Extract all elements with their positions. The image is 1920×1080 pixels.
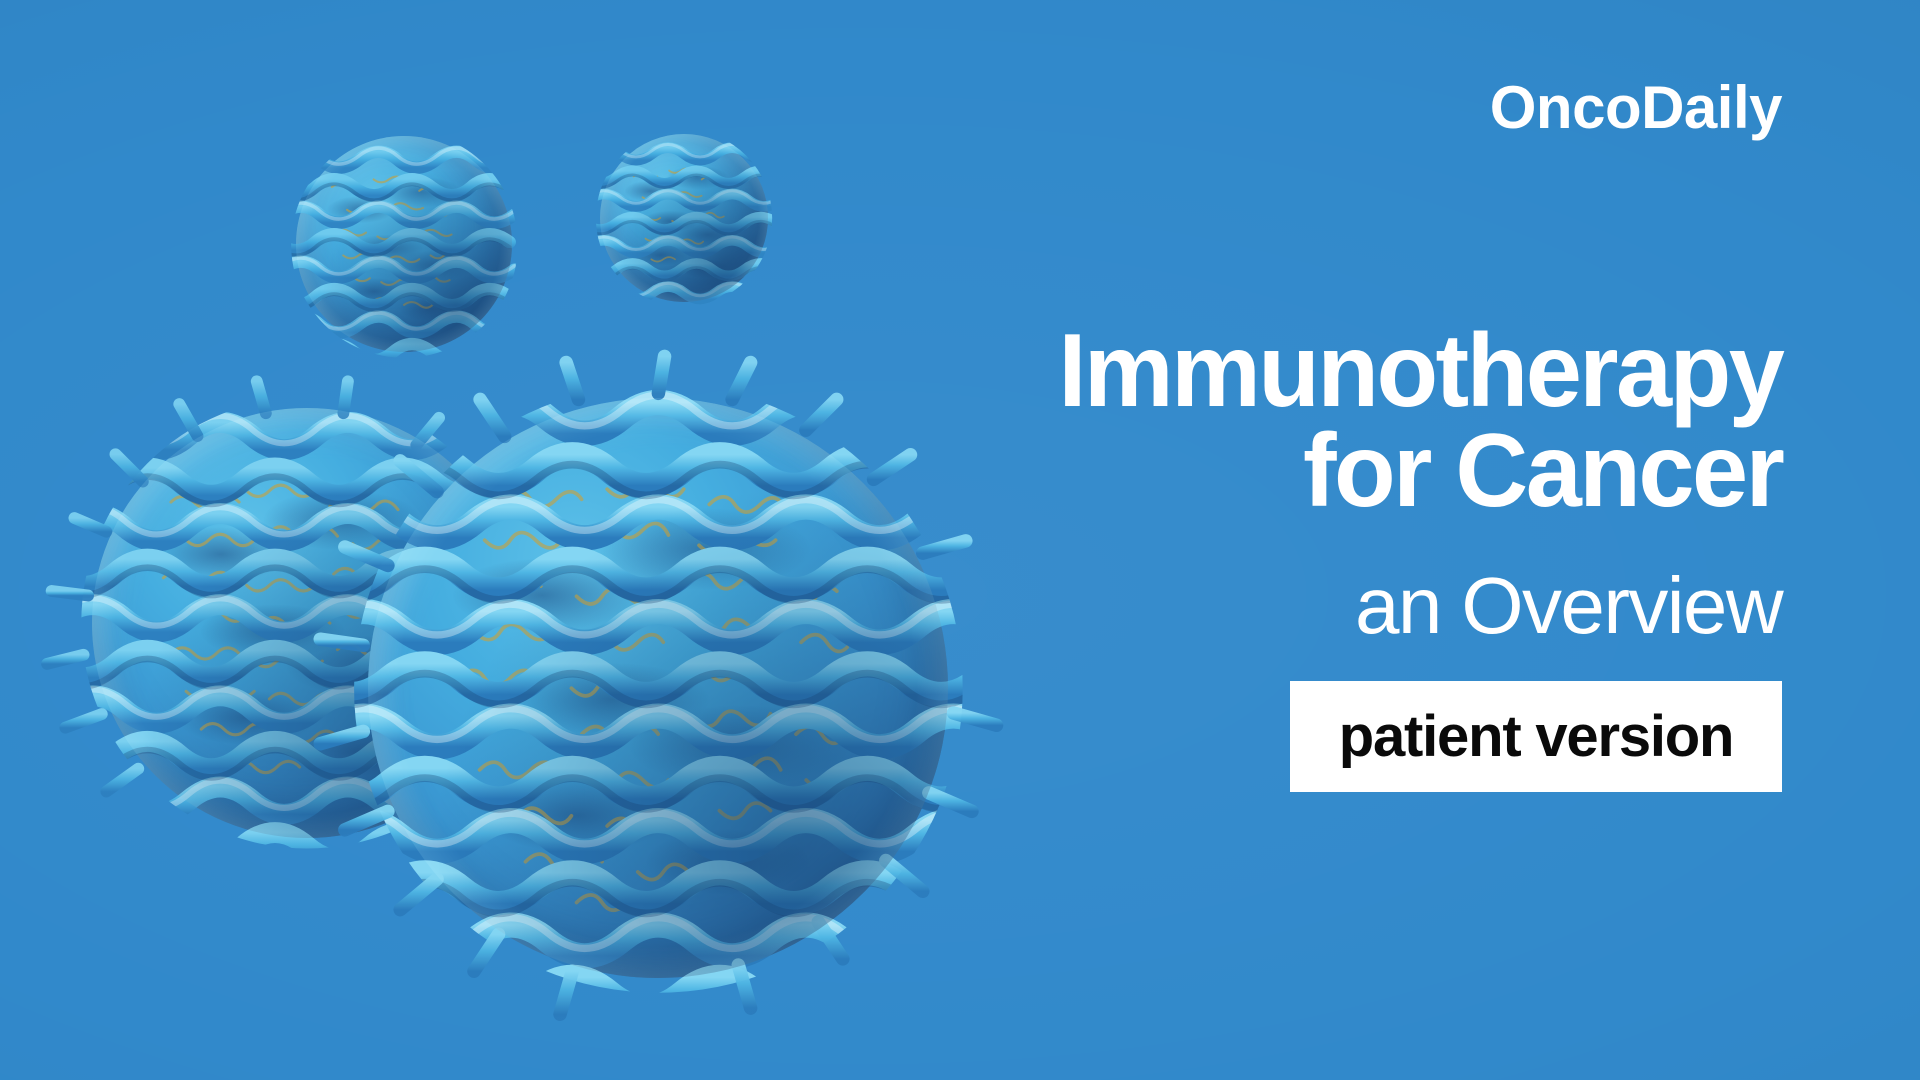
- slide-canvas: OncoDaily Immunotherapy for Cancer an Ov…: [0, 0, 1920, 1080]
- brand-logo-text: OncoDaily: [1490, 78, 1782, 138]
- page-subtitle: an Overview: [1355, 566, 1782, 646]
- immune-cell-small-left: [296, 136, 512, 352]
- page-title-line-2: for Cancer: [1058, 422, 1782, 522]
- cell-rim-light: [368, 398, 948, 978]
- cell-rim-light: [600, 134, 768, 302]
- page-title: Immunotherapy for Cancer: [1058, 322, 1782, 522]
- version-badge: patient version: [1290, 681, 1782, 792]
- immune-cell-large-main: [368, 398, 948, 978]
- page-title-line-1: Immunotherapy: [1058, 322, 1782, 422]
- immune-cell-small-right: [600, 134, 768, 302]
- cell-rim-light: [296, 136, 512, 352]
